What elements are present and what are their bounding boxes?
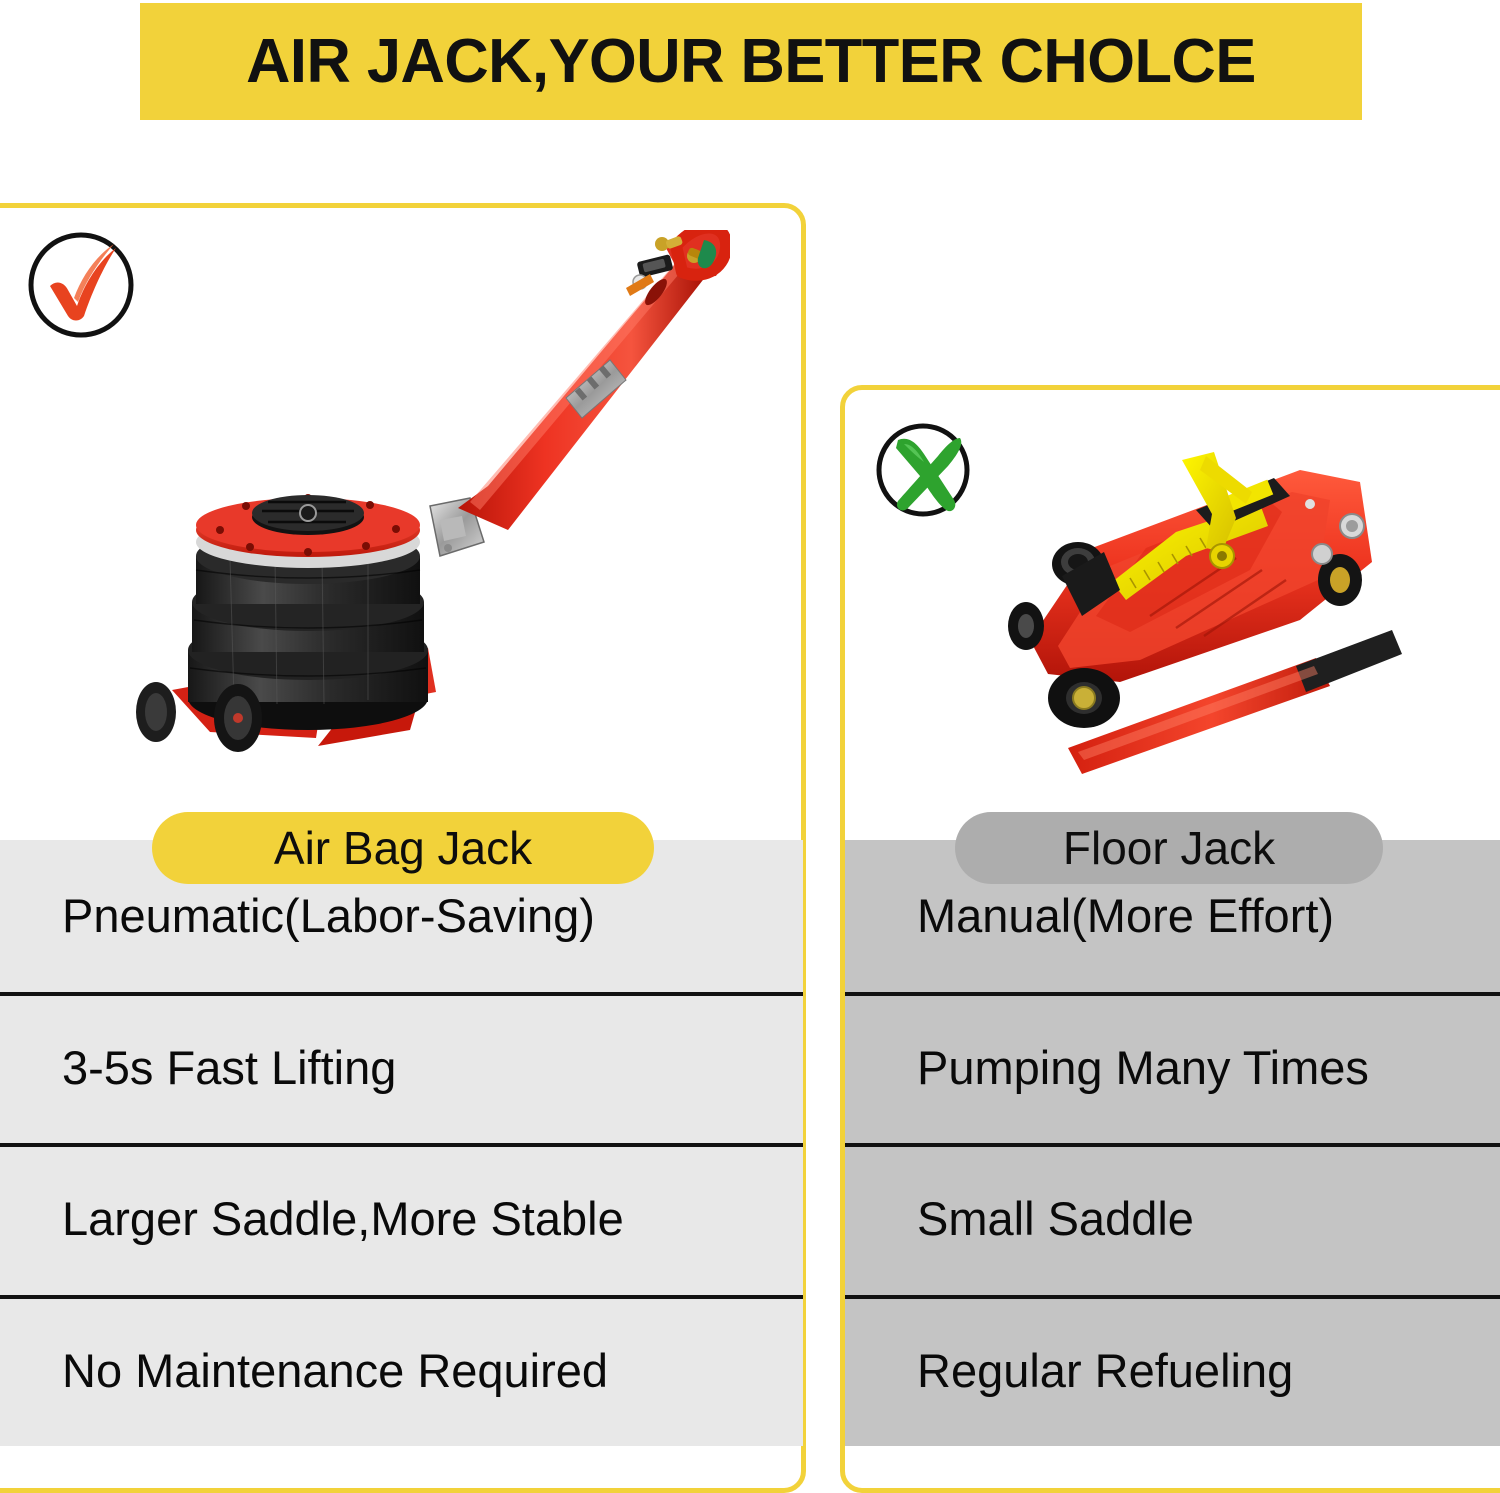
table-row: Larger Saddle,More Stable <box>0 1143 803 1295</box>
floor-jack-label-pill: Floor Jack <box>955 812 1383 884</box>
feature-text: Pumping Many Times <box>845 1040 1369 1095</box>
table-row: Regular Refueling <box>845 1295 1500 1447</box>
pill-label: Floor Jack <box>1063 821 1275 875</box>
title-banner: AIR JACK,YOUR BETTER CHOLCE <box>140 3 1362 120</box>
table-row: Small Saddle <box>845 1143 1500 1295</box>
feature-text: Small Saddle <box>845 1191 1194 1246</box>
floor-jack-photo <box>1000 430 1420 775</box>
air-bag-jack-feature-table: Pneumatic(Labor-Saving) 3-5s Fast Liftin… <box>0 840 803 1446</box>
feature-text: Regular Refueling <box>845 1343 1293 1398</box>
air-bag-jack-photo <box>110 230 730 760</box>
table-row: 3-5s Fast Lifting <box>0 992 803 1144</box>
feature-text: 3-5s Fast Lifting <box>0 1040 396 1095</box>
feature-text: Manual(More Effort) <box>845 888 1334 943</box>
feature-text: Pneumatic(Labor-Saving) <box>0 888 595 943</box>
table-row: Pumping Many Times <box>845 992 1500 1144</box>
feature-text: No Maintenance Required <box>0 1343 608 1398</box>
page-title: AIR JACK,YOUR BETTER CHOLCE <box>246 26 1256 97</box>
feature-text: Larger Saddle,More Stable <box>0 1191 624 1246</box>
cross-mark-icon <box>868 408 990 530</box>
pill-label: Air Bag Jack <box>274 821 532 875</box>
floor-jack-feature-table: Manual(More Effort) Pumping Many Times S… <box>845 840 1500 1446</box>
air-bag-jack-label-pill: Air Bag Jack <box>152 812 654 884</box>
table-row: No Maintenance Required <box>0 1295 803 1447</box>
